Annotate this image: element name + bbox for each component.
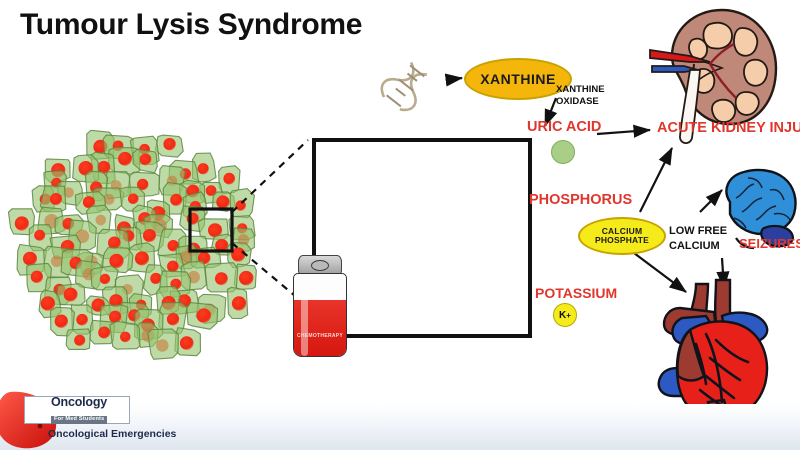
tumour-cell-nucleus — [55, 315, 68, 328]
arrow-calcium-to-brain — [700, 190, 722, 212]
tumour-cell-nucleus — [143, 229, 156, 242]
tumour-cell-nucleus — [156, 339, 169, 352]
tumour-cell-nucleus — [235, 200, 246, 211]
tumour-cell-mass — [8, 130, 256, 359]
potassium-ion-charge: + — [566, 311, 571, 320]
tumour-cell-nucleus — [140, 154, 152, 166]
logo-title: Oncology — [51, 396, 107, 409]
vial-cap-center — [311, 260, 329, 271]
low-free-calcium-label: LOW FREE CALCIUM — [669, 224, 727, 254]
calcium-phosphate-node: CALCIUM PHOSPHATE — [578, 217, 666, 255]
vial-label: CHEMOTHERAPY — [294, 333, 346, 339]
oncology-logo: Oncology For Med Students — [24, 396, 130, 424]
acute-kidney-injury-label: ACUTE KIDNEY INJURY — [657, 120, 800, 136]
xanthine-oxidase-label: XANTHINE OXIDASE — [556, 84, 605, 108]
tumour-cell-nucleus — [31, 271, 43, 283]
dna-helix-icon — [377, 57, 434, 115]
tumour-cell-nucleus — [76, 314, 88, 326]
tumour-cell-nucleus — [41, 296, 56, 311]
tumour-cell-nucleus — [163, 138, 175, 150]
tumour-cell-nucleus — [239, 271, 253, 285]
tumour-cell-nucleus — [15, 216, 29, 230]
xanthine-label: XANTHINE — [480, 72, 556, 87]
tumour-cell-nucleus — [74, 335, 85, 346]
arrow-calphos-to-aki — [640, 148, 672, 212]
vial-glass: CHEMOTHERAPY — [293, 273, 347, 357]
arrow-dna-to-xanthine — [446, 78, 462, 80]
tumour-cell-nucleus — [95, 215, 106, 226]
tumour-cell-nucleus — [170, 194, 182, 206]
phosphorus-label: PHOSPHORUS — [529, 192, 632, 208]
tumour-cell-nucleus — [135, 251, 149, 265]
tumour-cell-nucleus — [98, 327, 110, 339]
tumour-cell-nucleus — [51, 255, 63, 267]
tumour-cell-nucleus — [64, 288, 78, 302]
chemotherapy-vial: CHEMOTHERAPY — [288, 255, 350, 357]
tumour-cell-nucleus — [215, 272, 228, 285]
tumour-cell-nucleus — [167, 313, 179, 325]
calcium-phosphate-label: CALCIUM PHOSPHATE — [595, 227, 649, 245]
vial-highlight — [301, 296, 308, 356]
slide-canvas: Tumour Lysis Syndrome — [0, 0, 800, 450]
tumour-cell-nucleus — [23, 252, 37, 266]
tumour-cell-nucleus — [197, 308, 212, 323]
tumour-cell-nucleus — [198, 163, 209, 174]
potassium-ion-symbol: K — [559, 310, 566, 321]
low-free-calcium-line1: LOW FREE — [669, 225, 727, 237]
tumour-cell-nucleus — [34, 230, 45, 241]
tumour-cell-nucleus — [232, 296, 246, 310]
xanthine-oxidase-line2: OXIDASE — [556, 96, 599, 107]
tumour-cell-nucleus — [118, 152, 132, 166]
tumour-cell-nucleus — [223, 173, 235, 185]
footer-subtitle: Oncological Emergencies — [48, 428, 176, 440]
uric-acid-label: URIC ACID — [527, 119, 601, 135]
calcium-phosphate-line2: PHOSPHATE — [595, 235, 649, 245]
seizures-label: SEIZURES — [739, 236, 800, 251]
tumour-cell-nucleus — [216, 195, 229, 208]
tumour-cell-nucleus — [128, 194, 139, 205]
uric-acid-crystal-icon — [551, 140, 575, 164]
low-free-calcium-line2: CALCIUM — [669, 240, 720, 252]
tumour-cell-nucleus — [50, 193, 62, 205]
xanthine-oxidase-line1: XANTHINE — [556, 84, 605, 95]
arrow-uricacid-to-aki — [597, 130, 650, 134]
logo-tagline: For Med Students — [51, 416, 107, 424]
potassium-label: POTASSIUM — [535, 285, 617, 301]
tumour-cell-nucleus — [167, 261, 179, 273]
arrow-calphos-to-heart — [634, 253, 686, 292]
tumour-cell-nucleus — [180, 336, 194, 350]
tumour-cell-nucleus — [120, 332, 131, 343]
tumour-cell-nucleus — [100, 274, 110, 284]
potassium-ion-icon: K+ — [553, 303, 577, 327]
